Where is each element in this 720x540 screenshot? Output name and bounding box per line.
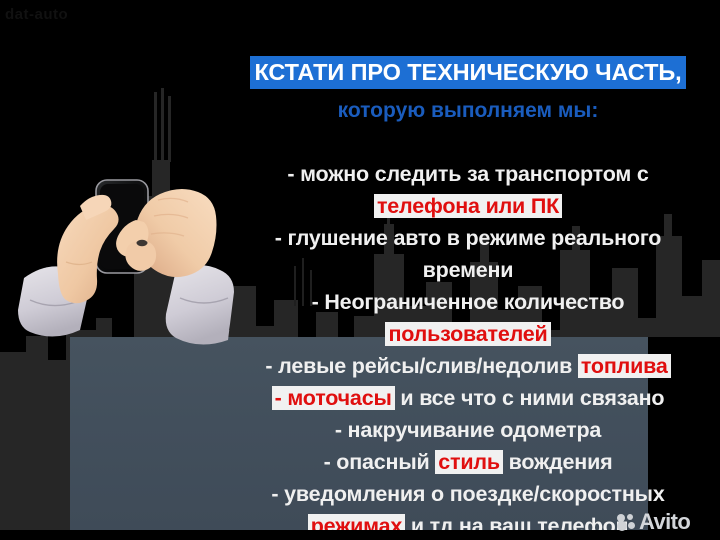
line-post: и все что с ними связано (395, 386, 665, 410)
list-item: - моточасы и все что с ними связано (228, 382, 708, 414)
poster-image: dat-auto (0, 0, 720, 540)
line-pre: - Неограниченное количество (312, 290, 625, 314)
list-item: времени (228, 254, 708, 286)
avito-logo: Avito (617, 509, 690, 535)
list-item: - Неограниченное количество (228, 286, 708, 318)
line-pre: - можно следить за транспортом с (287, 162, 648, 186)
bottom-bar (0, 530, 720, 540)
page-title: КСТАТИ ПРО ТЕХНИЧЕСКУЮ ЧАСТЬ, (250, 56, 685, 89)
list-item: - опасный стиль вождения (228, 446, 708, 478)
line-post: вождения (503, 450, 613, 474)
line-pre: - опасный (324, 450, 436, 474)
list-item: - уведомления о поездке/скоростных (228, 478, 708, 510)
line-highlight: топлива (578, 354, 671, 378)
page-subtitle: которую выполняем мы: (232, 98, 704, 123)
line-highlight: пользователей (385, 322, 550, 346)
list-item: пользователей (228, 318, 708, 350)
title-wrap: КСТАТИ ПРО ТЕХНИЧЕСКУЮ ЧАСТЬ, (232, 56, 704, 89)
line-pre: - уведомления о поездке/скоростных (271, 482, 664, 506)
line-pre: - глушение авто в режиме реального (275, 226, 661, 250)
line-highlight: стиль (435, 450, 503, 474)
hands-holding-phone-illustration (18, 150, 258, 350)
watermark-text: dat-auto (5, 6, 68, 23)
list-item: - левые рейсы/слив/недолив топлива (228, 350, 708, 382)
line-highlight: телефона или ПК (374, 194, 562, 218)
avito-mark-icon (617, 514, 636, 531)
line-pre: - накручивание одометра (335, 418, 601, 442)
list-item: - накручивание одометра (228, 414, 708, 446)
feature-list: - можно следить за транспортом с телефон… (228, 158, 708, 540)
line-pre: времени (423, 258, 514, 282)
line-highlight: - моточасы (272, 386, 395, 410)
list-item: телефона или ПК (228, 190, 708, 222)
list-item: - глушение авто в режиме реального (228, 222, 708, 254)
list-item: - можно следить за транспортом с (228, 158, 708, 190)
line-pre: - левые рейсы/слив/недолив (265, 354, 577, 378)
header-block: КСТАТИ ПРО ТЕХНИЧЕСКУЮ ЧАСТЬ, которую вы… (232, 56, 704, 124)
avito-wordmark: Avito (639, 509, 690, 535)
